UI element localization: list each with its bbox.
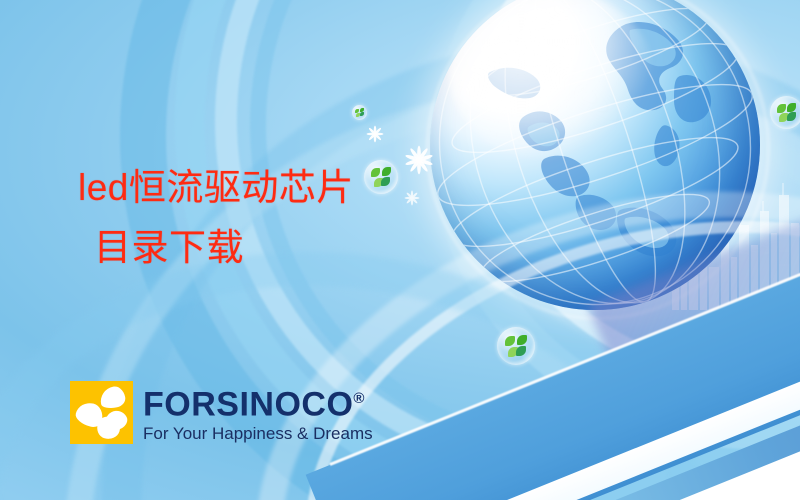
brand-name-text: FORSINOCO bbox=[143, 385, 353, 423]
banner-headline: led恒流驱动芯片 目录下载 bbox=[78, 158, 508, 278]
brand-tagline: For Your Happiness & Dreams bbox=[143, 423, 373, 444]
brand-name: FORSINOCO® bbox=[143, 382, 373, 421]
company-logo: FORSINOCO® For Your Happiness & Dreams bbox=[70, 381, 373, 444]
bubble-pinwheel-icon bbox=[352, 105, 367, 120]
registered-trademark-icon: ® bbox=[353, 390, 365, 407]
bubble-pinwheel-icon bbox=[770, 96, 800, 129]
logo-text-block: FORSINOCO® For Your Happiness & Dreams bbox=[143, 381, 373, 444]
four-petal-flower-icon bbox=[70, 381, 133, 444]
headline-line-2: 目录下载 bbox=[78, 218, 508, 278]
headline-line-1: led恒流驱动芯片 bbox=[78, 167, 354, 208]
promo-banner: led恒流驱动芯片 目录下载 FORSINOCO® For Your Happi… bbox=[0, 0, 800, 500]
bubble-pinwheel-icon bbox=[497, 327, 535, 365]
sparkle-flower-icon bbox=[366, 125, 384, 143]
